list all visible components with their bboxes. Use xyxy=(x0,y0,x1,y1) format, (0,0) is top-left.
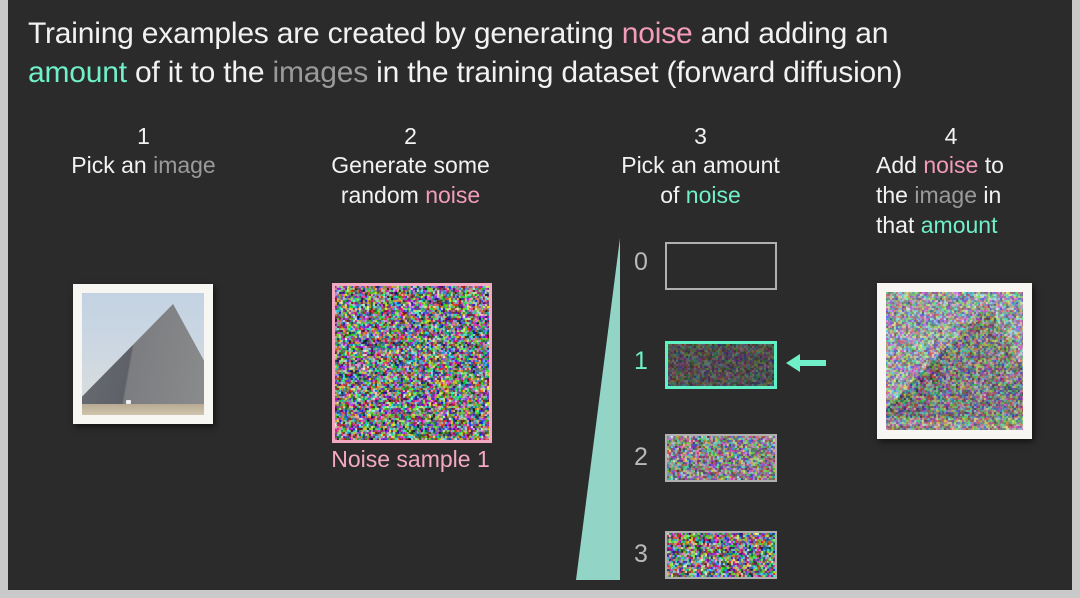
ground-marker xyxy=(126,400,131,404)
column-3-line2-keyword: noise xyxy=(686,182,741,208)
amount-option-3[interactable] xyxy=(665,531,777,579)
column-2-line2-pre: random xyxy=(341,182,425,208)
amount-label-3: 3 xyxy=(628,540,654,569)
column-4: 4 Add noise to the image in that amount xyxy=(876,122,1056,240)
column-4-line-1: Add noise to xyxy=(876,150,1056,180)
column-3: 3 Pick an amount of noise xyxy=(583,122,818,210)
column-3-description: Pick an amount of noise xyxy=(583,150,818,210)
column-4-line1-keyword: noise xyxy=(923,152,978,178)
title-keyword-images: images xyxy=(273,56,369,89)
column-2-description: Generate some random noise xyxy=(293,150,528,210)
source-image-canvas xyxy=(82,293,204,415)
desert-ground xyxy=(82,404,204,415)
column-2-line-2: random noise xyxy=(293,180,528,210)
column-2-number: 2 xyxy=(293,122,528,150)
amount-label-1: 1 xyxy=(628,347,654,376)
column-2: 2 Generate some random noise xyxy=(293,122,528,210)
column-3-line2-pre: of xyxy=(660,182,686,208)
slide-title: Training examples are created by generat… xyxy=(28,14,1048,92)
column-1-number: 1 xyxy=(26,122,261,150)
column-2-line-1: Generate some xyxy=(293,150,528,180)
amount-swatch-2 xyxy=(667,436,775,480)
amount-option-2[interactable] xyxy=(665,434,777,482)
amount-option-0[interactable] xyxy=(665,242,777,290)
source-image-photo xyxy=(73,284,213,424)
wedge-shape xyxy=(574,238,622,580)
title-text-1: Training examples are created by generat… xyxy=(28,17,622,50)
column-4-number: 4 xyxy=(876,122,1026,150)
amount-option-1[interactable] xyxy=(665,341,777,389)
noise-sample-canvas xyxy=(335,286,489,440)
amount-label-2: 2 xyxy=(628,443,654,472)
slide-panel: Training examples are created by generat… xyxy=(8,0,1072,590)
column-4-line2-keyword: image xyxy=(914,182,977,208)
column-1-description: Pick an image xyxy=(26,150,261,180)
column-1-line-1: Pick an image xyxy=(26,150,261,180)
column-4-description: Add noise to the image in that amount xyxy=(876,150,1056,240)
amount-gradient-wedge xyxy=(574,238,622,580)
amount-swatch-1 xyxy=(668,344,774,386)
column-3-line1-pre: Pick an amount xyxy=(621,152,780,178)
column-4-line2-pre: the xyxy=(876,182,914,208)
column-4-line2-post: in xyxy=(977,182,1001,208)
column-4-line-2: the image in xyxy=(876,180,1056,210)
noisy-image-canvas xyxy=(886,292,1023,430)
noisy-image-photo xyxy=(877,283,1032,439)
column-1-line1-pre: Pick an xyxy=(71,152,153,178)
column-1: 1 Pick an image xyxy=(26,122,261,180)
column-2-line2-keyword: noise xyxy=(425,182,480,208)
column-2-line1-pre: Generate some xyxy=(331,152,490,178)
noise-sample-caption: Noise sample 1 xyxy=(293,446,528,473)
column-3-number: 3 xyxy=(583,122,818,150)
column-4-line3-pre: that xyxy=(876,212,921,238)
amount-label-0: 0 xyxy=(628,248,654,277)
column-4-line3-keyword: amount xyxy=(921,212,998,238)
column-4-line-3: that amount xyxy=(876,210,1056,240)
title-keyword-noise: noise xyxy=(622,17,693,50)
column-3-line-2: of noise xyxy=(583,180,818,210)
column-4-line1-post: to xyxy=(978,152,1004,178)
amount-swatch-3 xyxy=(667,533,775,577)
selection-arrow-icon xyxy=(784,350,828,376)
slide-root: Training examples are created by generat… xyxy=(0,0,1080,598)
title-text-4: in the training dataset (forward diffusi… xyxy=(368,56,902,89)
column-1-line1-keyword: image xyxy=(153,152,216,178)
noisy-desert-ground xyxy=(886,418,1023,430)
noise-sample-image xyxy=(332,283,492,443)
column-4-line1-pre: Add xyxy=(876,152,923,178)
title-text-2: and adding an xyxy=(693,17,889,50)
title-keyword-amount: amount xyxy=(28,56,127,89)
amount-swatch-0 xyxy=(667,244,775,288)
column-3-line-1: Pick an amount xyxy=(583,150,818,180)
title-text-3: of it to the xyxy=(127,56,273,89)
